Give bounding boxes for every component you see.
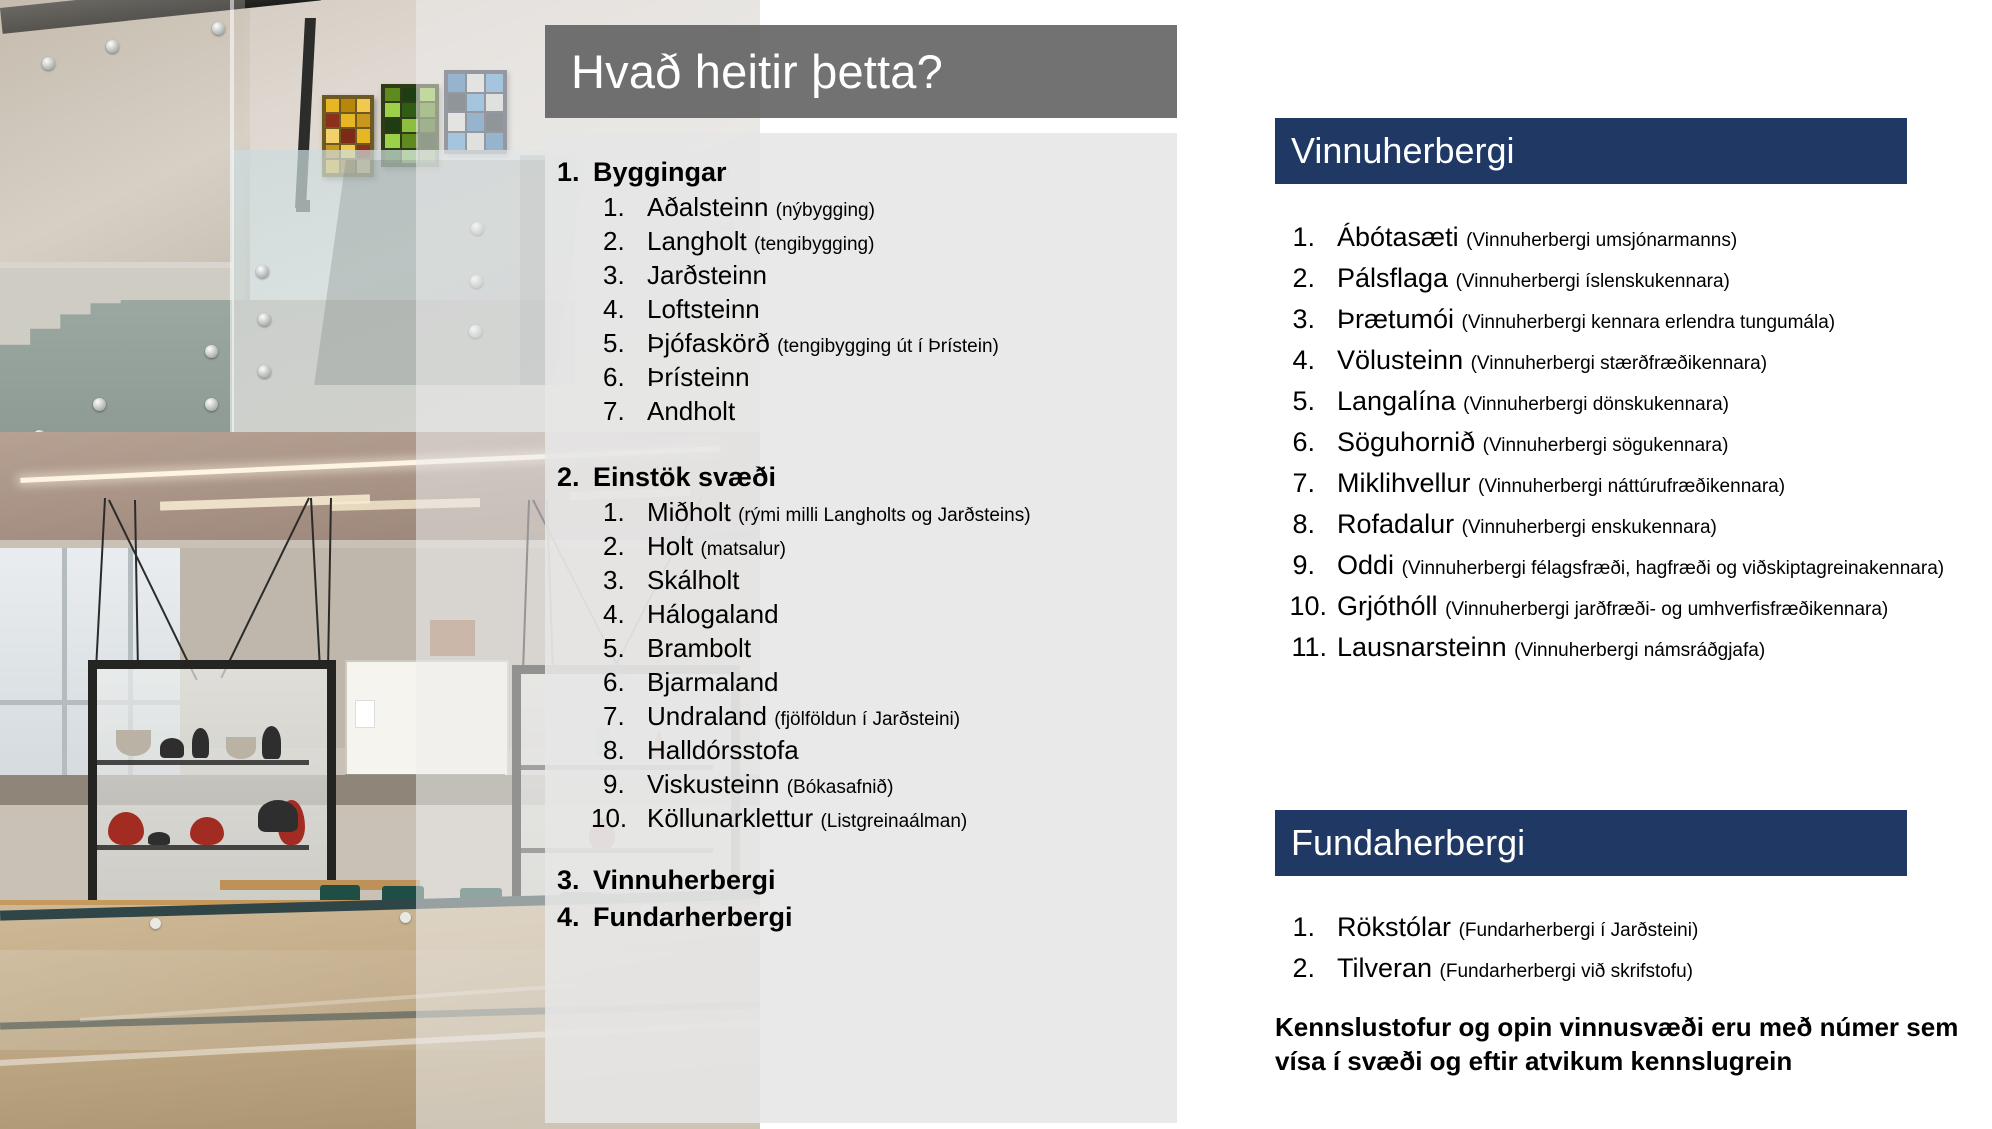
footer-note: Kennslustofur og opin vinnusvæði eru með… (1275, 1010, 1975, 1079)
item-number: 1. (545, 497, 647, 528)
fundaherbergi-header-label: Fundaherbergi (1291, 822, 1525, 864)
list-section-heading: 2. Einstök svæði (545, 462, 1169, 493)
item-number: 2. (1275, 953, 1337, 984)
item-note: (Fundarherbergi í Jarðsteini) (1459, 920, 1699, 941)
section-title: Einstök svæði (593, 462, 776, 493)
list-item: 4.Hálogaland (545, 599, 1169, 630)
item-name: Þjófaskörð (647, 328, 770, 358)
list-item: 7.Miklihvellur (Vinnuherbergi náttúrufræ… (1275, 468, 1975, 499)
list-item: 1.Miðholt (rými milli Langholts og Jarðs… (545, 497, 1169, 528)
right-column: Vinnuherbergi 1.Ábótasæti (Vinnuherbergi… (1275, 0, 1975, 1129)
list-item: 10.Köllunarklettur (Listgreinaálman) (545, 803, 1169, 834)
cabinet-object-vase (192, 728, 209, 758)
item-note: (Vinnuherbergi umsjónarmanns) (1466, 230, 1737, 251)
list-section-heading: 3. Vinnuherbergi (545, 865, 1169, 896)
section-number: 4. (545, 902, 593, 933)
item-name: Pálsflaga (1337, 263, 1448, 293)
item-name: Miðholt (647, 497, 731, 527)
item-name: Ábótasæti (1337, 222, 1459, 252)
item-number: 2. (545, 226, 647, 257)
item-note: (Vinnuherbergi námsráðgjafa) (1514, 640, 1765, 661)
item-number: 10. (545, 803, 647, 834)
photo-whiteboard-note (355, 700, 375, 728)
cabinet-object-vase (262, 726, 281, 759)
item-number: 7. (545, 701, 647, 732)
list-item: 5.Brambolt (545, 633, 1169, 664)
item-note: (Fundarherbergi við skrifstofu) (1440, 961, 1693, 982)
stair-bolt (205, 398, 218, 411)
list-section-heading: 4. Fundarherbergi (545, 902, 1169, 933)
list-item: 2.Holt (matsalur) (545, 531, 1169, 562)
cabinet-shelf (97, 760, 309, 765)
item-name: Halldórsstofa (647, 735, 799, 765)
fundaherbergi-header-bar: Fundaherbergi (1275, 810, 1907, 876)
item-number: 3. (545, 260, 647, 291)
list-item: 4.Völusteinn (Vinnuherbergi stærðfræðike… (1275, 345, 1975, 376)
list-item: 6.Bjarmaland (545, 667, 1169, 698)
list-item: 8.Rofadalur (Vinnuherbergi enskukennara) (1275, 509, 1975, 540)
list-item: 9.Oddi (Vinnuherbergi félagsfræði, hagfr… (1275, 550, 1975, 581)
list-item: 2.Tilveran (Fundarherbergi við skrifstof… (1275, 953, 1975, 984)
item-name: Skálholt (647, 565, 740, 595)
item-number: 9. (1275, 550, 1337, 581)
item-note: (Bókasafnið) (787, 777, 894, 798)
item-note: (Vinnuherbergi stærðfræðikennara) (1471, 353, 1767, 374)
section-spacer (545, 837, 1169, 859)
photo-display-cabinet-left (88, 660, 336, 938)
cabinet-object-bowl (148, 832, 170, 845)
item-name: Jarðsteinn (647, 260, 767, 290)
item-note: (matsalur) (700, 539, 786, 560)
item-note: (Vinnuherbergi náttúrufræðikennara) (1478, 476, 1785, 497)
item-name: Bjarmaland (647, 667, 779, 697)
item-number: 11. (1275, 632, 1337, 663)
glass-bolt (42, 57, 55, 70)
item-number: 8. (1275, 509, 1337, 540)
item-name: Andholt (647, 396, 735, 426)
item-name: Völusteinn (1337, 345, 1463, 375)
item-number: 7. (1275, 468, 1337, 499)
item-name: Tilveran (1337, 953, 1432, 983)
cabinet-object-dark (258, 800, 298, 832)
section-title: Fundarherbergi (593, 902, 793, 933)
item-number: 5. (545, 328, 647, 359)
item-note: (tengibygging út í Þrístein) (777, 336, 999, 357)
item-note: (Vinnuherbergi kennara erlendra tungumál… (1462, 312, 1836, 333)
list-item: 5.Langalína (Vinnuherbergi dönskukennara… (1275, 386, 1975, 417)
item-note: (fjölföldun í Jarðsteini) (774, 709, 960, 730)
item-name: Langholt (647, 226, 747, 256)
item-note: (Vinnuherbergi íslenskukennara) (1456, 271, 1730, 292)
item-note: (Vinnuherbergi jarðfræði- og umhverfisfr… (1445, 599, 1888, 620)
item-number: 3. (545, 565, 647, 596)
item-number: 4. (545, 599, 647, 630)
item-number: 9. (545, 769, 647, 800)
item-name: Þrætumói (1337, 304, 1454, 334)
vinnuherbergi-list: 1.Ábótasæti (Vinnuherbergi umsjónarmanns… (1275, 222, 1975, 673)
item-note: (tengibygging) (754, 234, 874, 255)
item-number: 3. (1275, 304, 1337, 335)
cabinet-object-bowl (226, 737, 256, 759)
list-section-heading: 1. Byggingar (545, 157, 1169, 188)
item-name: Holt (647, 531, 693, 561)
slide-title-bar: Hvað heitir þetta? (545, 25, 1177, 118)
photo-glass-left (0, 0, 245, 300)
cabinet-object-red-vase (190, 817, 224, 845)
list-item: 1.Rökstólar (Fundarherbergi í Jarðsteini… (1275, 912, 1975, 943)
rail-bolt (150, 918, 161, 929)
vinnuherbergi-header-bar: Vinnuherbergi (1275, 118, 1907, 184)
item-number: 5. (1275, 386, 1337, 417)
item-number: 1. (545, 192, 647, 223)
item-name: Hálogaland (647, 599, 779, 629)
item-number: 4. (1275, 345, 1337, 376)
list-item: 11.Lausnarsteinn (Vinnuherbergi námsráðg… (1275, 632, 1975, 663)
item-number: 8. (545, 735, 647, 766)
item-note: (Vinnuherbergi enskukennara) (1462, 517, 1717, 538)
page-title: Hvað heitir þetta? (545, 44, 943, 99)
list-item: 6.Söguhornið (Vinnuherbergi sögukennara) (1275, 427, 1975, 458)
list-item: 3.Jarðsteinn (545, 260, 1169, 291)
item-name: Aðalsteinn (647, 192, 768, 222)
item-name: Loftsteinn (647, 294, 760, 324)
overview-list-panel: 1. Byggingar 1.Aðalsteinn (nýbygging) 2.… (545, 133, 1177, 1123)
stair-bolt (93, 398, 106, 411)
item-number: 10. (1275, 591, 1337, 622)
list-item: 2.Pálsflaga (Vinnuherbergi íslenskukenna… (1275, 263, 1975, 294)
stair-bolt (205, 345, 218, 358)
cabinet-object-bowl (116, 730, 151, 756)
item-note: (nýbygging) (776, 200, 875, 221)
item-name: Oddi (1337, 550, 1394, 580)
list-item: 2.Langholt (tengibygging) (545, 226, 1169, 257)
item-number: 1. (1275, 912, 1337, 943)
list-item: 5.Þjófaskörð (tengibygging út í Þrístein… (545, 328, 1169, 359)
list-item: 7.Andholt (545, 396, 1169, 427)
glass-bolt (258, 365, 271, 378)
section-spacer (545, 430, 1169, 452)
section-number: 2. (545, 462, 593, 493)
item-note: (rými milli Langholts og Jarðsteins) (738, 505, 1031, 526)
item-name: Viskusteinn (647, 769, 780, 799)
section-title: Vinnuherbergi (593, 865, 776, 896)
list-item: 7.Undraland (fjölföldun í Jarðsteini) (545, 701, 1169, 732)
list-item: 4.Loftsteinn (545, 294, 1169, 325)
glass-bolt (256, 265, 269, 278)
list-item: 3.Þrætumói (Vinnuherbergi kennara erlend… (1275, 304, 1975, 335)
item-note: (Vinnuherbergi dönskukennara) (1463, 394, 1729, 415)
rail-bolt (400, 912, 411, 923)
item-name: Grjóthóll (1337, 591, 1438, 621)
section-number: 3. (545, 865, 593, 896)
list-item: 6.Þrísteinn (545, 362, 1169, 393)
glass-bolt (258, 313, 271, 326)
item-name: Rökstólar (1337, 912, 1451, 942)
item-number: 1. (1275, 222, 1337, 253)
item-note: (Vinnuherbergi sögukennara) (1483, 435, 1729, 456)
list-item: 1.Ábótasæti (Vinnuherbergi umsjónarmanns… (1275, 222, 1975, 253)
item-note: (Vinnuherbergi félagsfræði, hagfræði og … (1402, 558, 1945, 579)
item-name: Lausnarsteinn (1337, 632, 1507, 662)
section-title: Byggingar (593, 157, 727, 188)
list-item: 1.Aðalsteinn (nýbygging) (545, 192, 1169, 223)
cabinet-object-red-vase (108, 812, 144, 845)
cabinet-shelf (97, 845, 309, 850)
item-name: Köllunarklettur (647, 803, 813, 833)
item-number: 6. (1275, 427, 1337, 458)
item-number: 4. (545, 294, 647, 325)
item-name: Langalína (1337, 386, 1456, 416)
window-mullion (62, 548, 67, 798)
item-name: Þrísteinn (647, 362, 750, 392)
glass-bolt (106, 40, 119, 53)
list-item: 3.Skálholt (545, 565, 1169, 596)
item-name: Söguhornið (1337, 427, 1475, 457)
section-number: 1. (545, 157, 593, 188)
item-name: Brambolt (647, 633, 751, 663)
photo-glass-seam (230, 0, 234, 440)
item-name: Miklihvellur (1337, 468, 1471, 498)
list-item: 10.Grjóthóll (Vinnuherbergi jarðfræði- o… (1275, 591, 1975, 622)
vinnuherbergi-header-label: Vinnuherbergi (1291, 130, 1515, 172)
cabinet-object-bowl (160, 738, 184, 758)
item-number: 2. (1275, 263, 1337, 294)
item-name: Undraland (647, 701, 767, 731)
item-number: 2. (545, 531, 647, 562)
item-note: (Listgreinaálman) (820, 811, 967, 832)
item-number: 6. (545, 667, 647, 698)
item-number: 5. (545, 633, 647, 664)
fundaherbergi-list: 1.Rökstólar (Fundarherbergi í Jarðsteini… (1275, 912, 1975, 994)
item-name: Rofadalur (1337, 509, 1454, 539)
list-item: 9.Viskusteinn (Bókasafnið) (545, 769, 1169, 800)
item-number: 6. (545, 362, 647, 393)
glass-bolt (212, 22, 225, 35)
list-item: 8.Halldórsstofa (545, 735, 1169, 766)
item-number: 7. (545, 396, 647, 427)
